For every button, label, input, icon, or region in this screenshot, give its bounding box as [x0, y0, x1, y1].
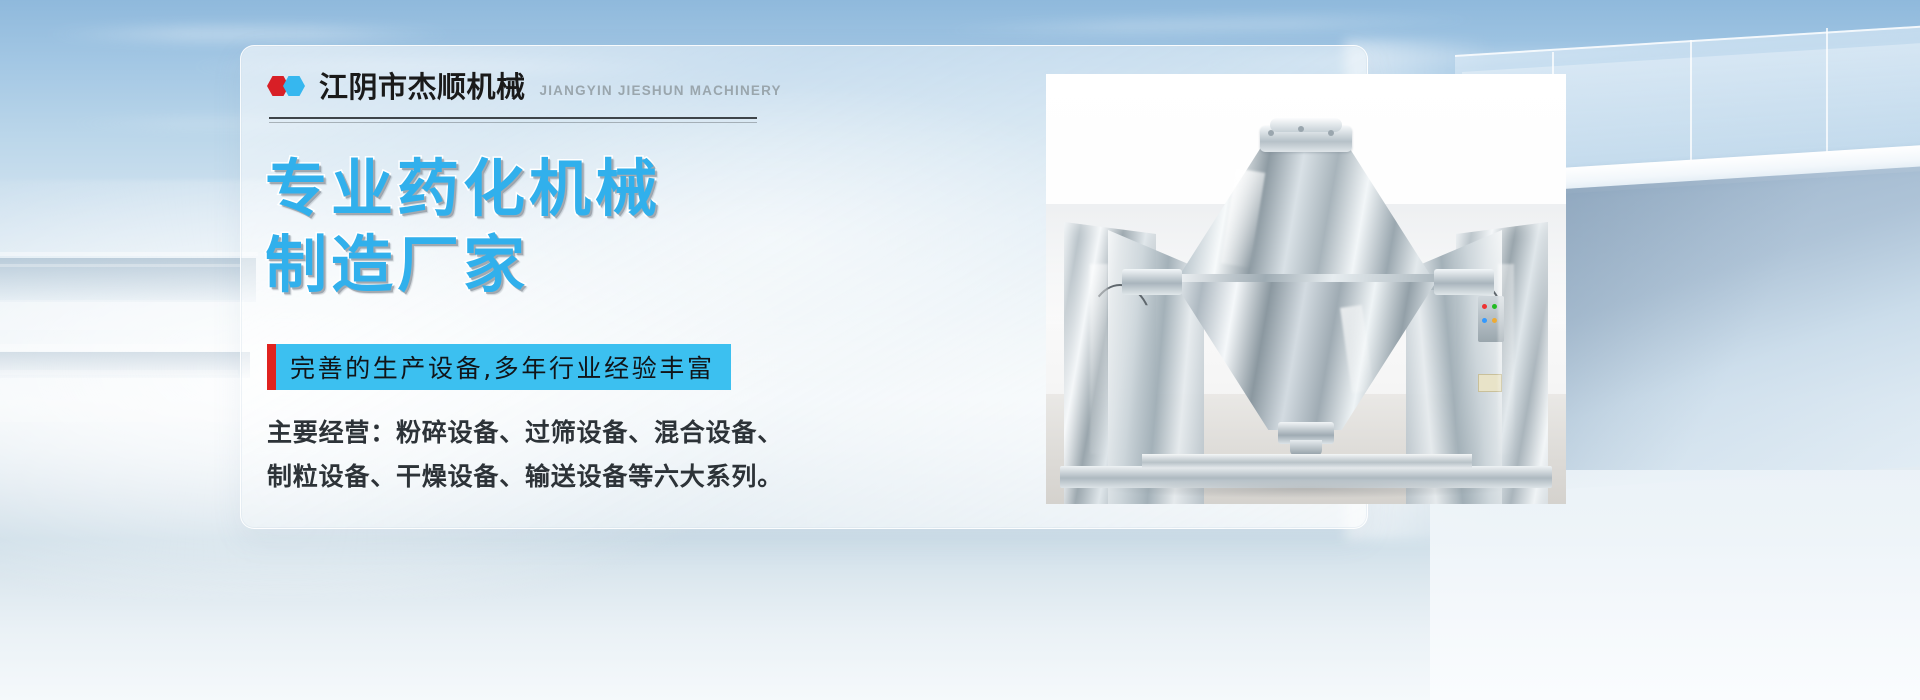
- manway-bolt: [1268, 130, 1274, 136]
- indicator-light-green: [1492, 304, 1497, 309]
- dryer-trunnion-left: [1122, 269, 1182, 295]
- tagline-text: 完善的生产设备,多年行业经验丰富: [290, 349, 715, 385]
- highlight-reflection: [1090, 264, 1108, 454]
- product-photo: [1046, 74, 1566, 504]
- highlight-reflection: [1498, 264, 1514, 454]
- manway-bolt: [1328, 130, 1334, 136]
- headline-line-1: 专业药化机械: [265, 151, 661, 227]
- brand-name-en: JIANGYIN JIESHUN MACHINERY: [540, 83, 782, 98]
- sea-band: [0, 400, 246, 422]
- dryer-trunnion-right: [1434, 269, 1494, 295]
- sea-band: [0, 252, 258, 256]
- promo-banner: 江阴市杰顺机械 JIANGYIN JIESHUN MACHINERY 专业药化机…: [0, 0, 1920, 700]
- manway-bolt: [1298, 126, 1304, 132]
- indicator-light-amber: [1492, 318, 1497, 323]
- blue-hexagon-icon: [283, 76, 305, 96]
- business-scope-line-2: 制粒设备、干燥设备、输送设备等六大系列。: [267, 455, 787, 499]
- cloud-streak: [40, 26, 460, 42]
- machine-cross-bar: [1142, 454, 1472, 468]
- logo-mark: [267, 76, 305, 96]
- headline: 专业药化机械 制造厂家: [265, 151, 661, 302]
- sea-band: [0, 264, 240, 267]
- brand-name-cn: 江阴市杰顺机械: [319, 73, 526, 102]
- business-scope-line-1: 主要经营：粉碎设备、过筛设备、混合设备、: [267, 411, 787, 455]
- content-card: 江阴市杰顺机械 JIANGYIN JIESHUN MACHINERY 专业药化机…: [240, 45, 1368, 529]
- machine-ground-shadow: [1106, 480, 1506, 498]
- indicator-light-blue: [1482, 318, 1487, 323]
- sea-band: [0, 344, 252, 351]
- business-scope-text: 主要经营：粉碎设备、过筛设备、混合设备、 制粒设备、干燥设备、输送设备等六大系列…: [267, 411, 787, 499]
- header-divider: [269, 117, 757, 119]
- brand-logo: 江阴市杰顺机械 JIANGYIN JIESHUN MACHINERY: [267, 73, 782, 102]
- headline-line-2: 制造厂家: [265, 227, 661, 303]
- deck-floor: [1430, 470, 1920, 700]
- sea-band: [0, 300, 244, 330]
- tagline-banner: 完善的生产设备,多年行业经验丰富: [267, 344, 731, 390]
- sea-band: [0, 370, 238, 375]
- indicator-light-red: [1482, 304, 1487, 309]
- header-divider-thin: [269, 122, 757, 123]
